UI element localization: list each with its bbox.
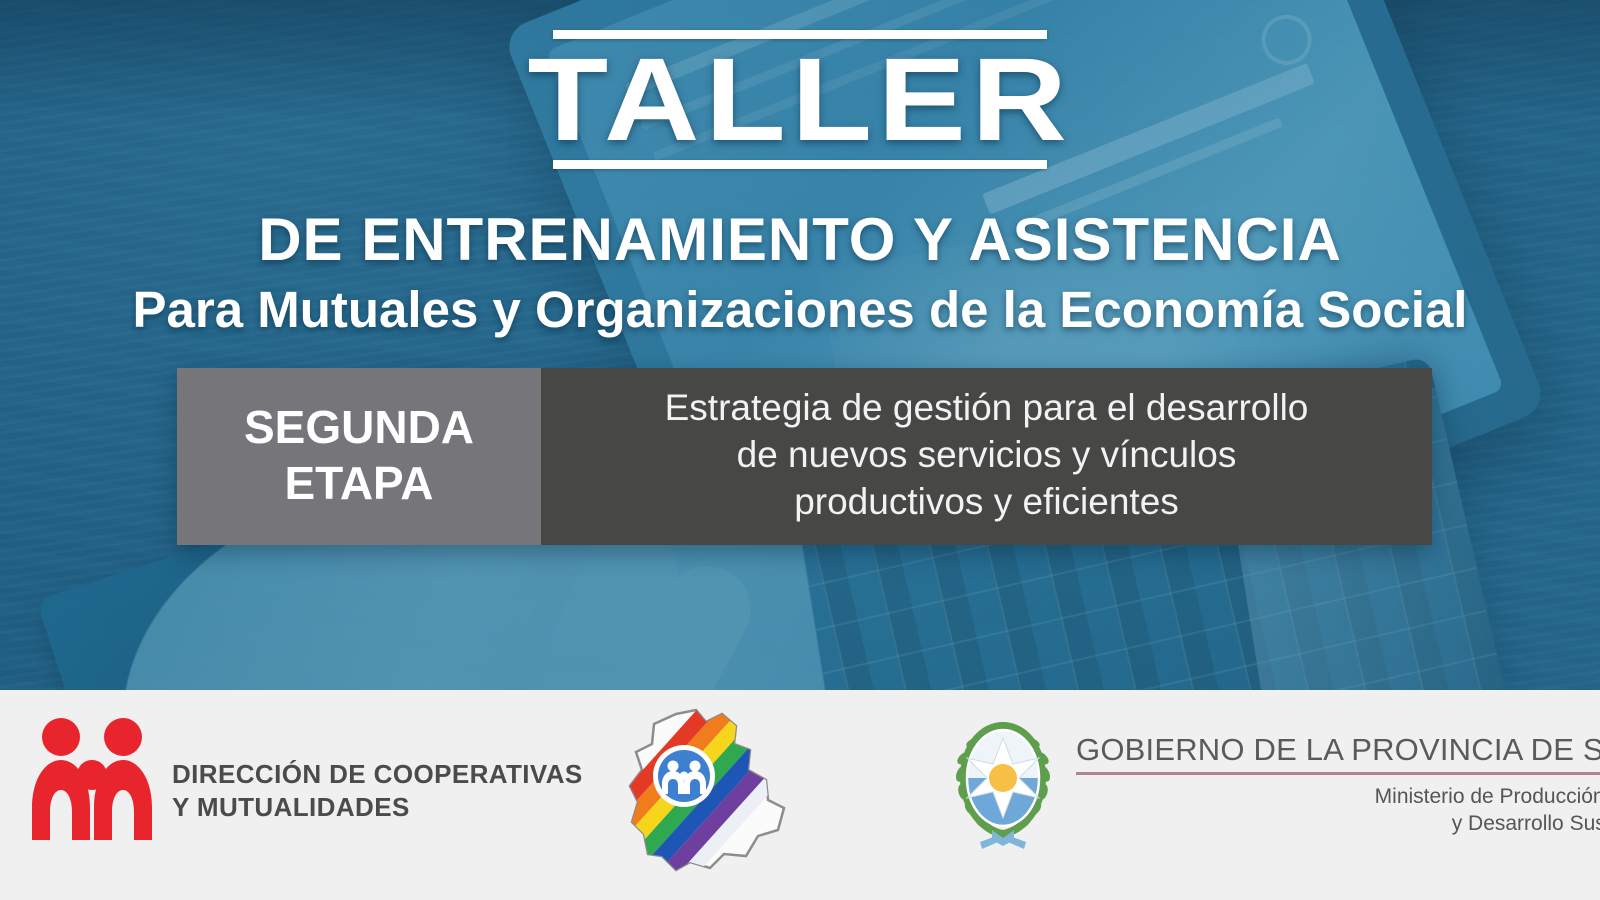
topic-line-1: Estrategia de gestión para el desarrollo [665,384,1309,431]
ministry-subtitle: Ministerio de Producción, Trabajo y Desa… [1076,783,1600,837]
headline-block: TALLER DE ENTRENAMIENTO Y ASISTENCIA Par… [0,0,1600,690]
footer-center-logo-group [618,704,796,889]
government-title-rule [1076,772,1600,775]
ministry-subtitle-line2: y Desarrollo Sustentable. [1076,810,1600,837]
mutualism-badge-icon [653,745,715,807]
ministry-subtitle-line1: Ministerio de Producción, Trabajo [1076,783,1600,810]
stage-line-2: ETAPA [244,455,474,511]
stage-box: SEGUNDA ETAPA [177,368,541,545]
government-title: GOBIERNO DE LA PROVINCIA DE SALTA. [1076,732,1600,768]
government-text-block: GOBIERNO DE LA PROVINCIA DE SALTA. Minis… [1076,732,1600,837]
family-m-logo-icon [28,712,156,842]
footer-left-label-line2: Y MUTUALIDADES [172,791,583,824]
topic-line-2: de nuevos servicios y vínculos [665,431,1309,478]
banner-strip: SEGUNDA ETAPA Estrategia de gestión para… [177,368,1432,545]
poster-subtitle-line1: DE ENTRENAMIENTO Y ASISTENCIA [0,205,1600,274]
stage-label: SEGUNDA ETAPA [244,399,474,511]
salta-coat-of-arms-icon [940,714,1066,854]
poster-canvas: TALLER DE ENTRENAMIENTO Y ASISTENCIA Par… [0,0,1600,900]
topic-box: Estrategia de gestión para el desarrollo… [541,368,1432,545]
salta-map-rainbow-mutualism-icon [618,704,796,884]
footer-left-label-line1: DIRECCIÓN DE COOPERATIVAS [172,758,583,791]
poster-subtitle-line2: Para Mutuales y Organizaciones de la Eco… [0,280,1600,339]
footer-bar: DIRECCIÓN DE COOPERATIVAS Y MUTUALIDADES [0,690,1600,900]
topic-label: Estrategia de gestión para el desarrollo… [665,384,1309,525]
poster-title: TALLER [0,42,1600,158]
footer-left-label: DIRECCIÓN DE COOPERATIVAS Y MUTUALIDADES [172,758,583,824]
topic-line-3: productivos y eficientes [665,478,1309,525]
footer-left-logo-group: DIRECCIÓN DE COOPERATIVAS Y MUTUALIDADES [28,712,583,842]
stage-line-1: SEGUNDA [244,399,474,455]
footer-right-logo-group: GOBIERNO DE LA PROVINCIA DE SALTA. Minis… [940,714,1600,854]
